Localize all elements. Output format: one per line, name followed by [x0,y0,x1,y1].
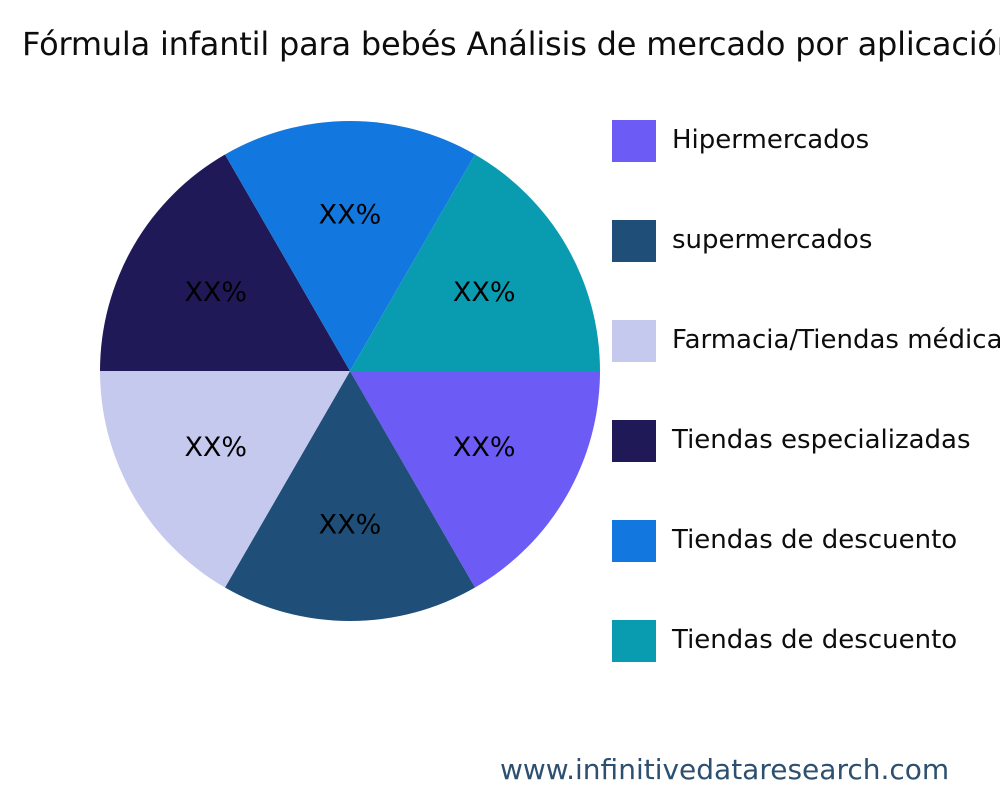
pie-chart: XX%XX%XX%XX%XX%XX% [100,121,600,621]
legend-color-swatch [612,220,656,262]
pie-slice-label: XX% [453,432,516,463]
pie-chart-svg: XX%XX%XX%XX%XX%XX% [100,121,600,621]
legend-item[interactable]: Tiendas especializadas [612,412,1000,512]
legend-color-swatch [612,420,656,462]
legend-color-swatch [612,320,656,362]
pie-slice-group [100,121,600,621]
pie-slice-label: XX% [184,277,247,308]
pie-slice-label: XX% [319,510,382,541]
legend-item-label: supermercados [672,218,1000,262]
pie-slice-label: XX% [319,200,382,231]
legend-item-label: Tiendas especializadas [672,418,1000,462]
page-title: Fórmula infantil para bebés Análisis de … [22,24,1000,64]
legend-item-label: Tiendas de descuento [672,518,1000,562]
pie-slice-label: XX% [453,277,516,308]
pie-slice-label: XX% [184,432,247,463]
legend-color-swatch [612,620,656,662]
legend-item[interactable]: Tiendas de descuento [612,612,1000,712]
chart-legend: HipermercadossupermercadosFarmacia/Tiend… [612,112,1000,712]
legend-item-label: Hipermercados [672,118,1000,162]
legend-item[interactable]: supermercados [612,212,1000,312]
legend-item[interactable]: Hipermercados [612,112,1000,212]
legend-item[interactable]: Farmacia/Tiendas médicas [612,312,1000,412]
legend-color-swatch [612,120,656,162]
legend-color-swatch [612,520,656,562]
source-url: www.infinitivedataresearch.com [500,752,949,788]
legend-item-label: Tiendas de descuento [672,618,1000,662]
legend-item[interactable]: Tiendas de descuento [612,512,1000,612]
legend-item-label: Farmacia/Tiendas médicas [672,318,1000,362]
